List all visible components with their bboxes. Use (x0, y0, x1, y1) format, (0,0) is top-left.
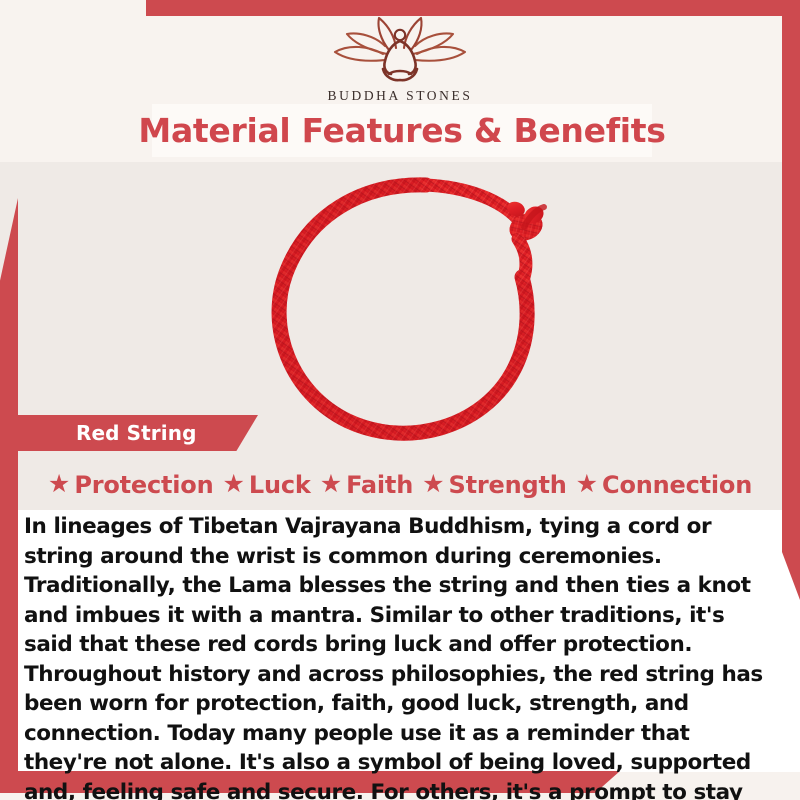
benefit-item: ★ Faith (320, 471, 413, 499)
brand-name: BUDDHA STONES (0, 88, 800, 104)
star-icon: ★ (576, 472, 598, 497)
infographic-page: BUDDHA STONES Material Features & Benefi… (0, 0, 800, 800)
decorative-bar-left (0, 198, 18, 788)
benefit-label: Connection (602, 471, 752, 499)
page-title: Material Features & Benefits (138, 111, 665, 150)
product-photo-red-string-bracelet (230, 165, 590, 450)
benefit-label: Faith (346, 471, 413, 499)
star-icon: ★ (48, 472, 70, 497)
benefit-label: Protection (74, 471, 213, 499)
star-icon: ★ (422, 472, 444, 497)
lotus-meditation-figure-icon (325, 14, 475, 86)
product-label-text: Red String (76, 421, 196, 445)
benefit-item: ★ Luck (222, 471, 310, 499)
title-banner: Material Features & Benefits (152, 104, 652, 157)
benefit-label: Luck (249, 471, 311, 499)
benefit-item: ★ Strength (422, 471, 567, 499)
brand-logo: BUDDHA STONES (0, 14, 800, 104)
star-icon: ★ (320, 472, 342, 497)
benefits-row: ★ Protection ★ Luck ★ Faith ★ Strength ★… (20, 466, 780, 504)
benefit-item: ★ Protection (48, 471, 214, 499)
star-icon: ★ (222, 472, 244, 497)
description-paragraph: In lineages of Tibetan Vajrayana Buddhis… (24, 512, 776, 800)
benefit-label: Strength (449, 471, 567, 499)
benefit-item: ★ Connection (576, 471, 752, 499)
product-label-banner: Red String (18, 415, 258, 451)
